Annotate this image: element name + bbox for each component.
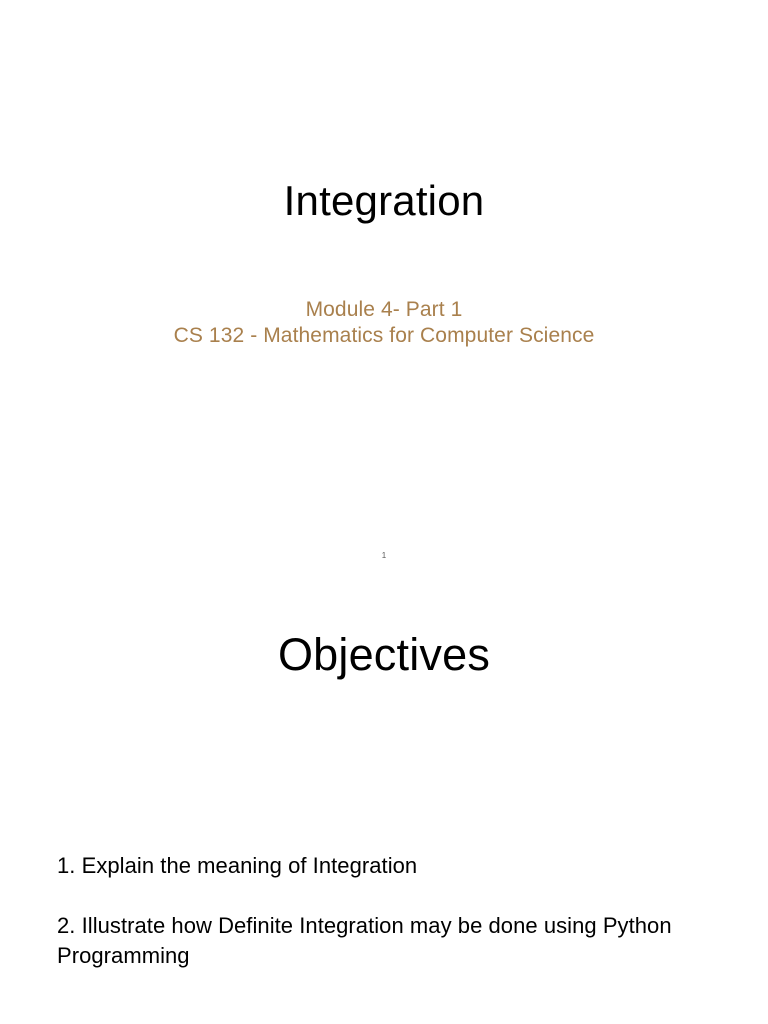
- objectives-list: 1. Explain the meaning of Integration 2.…: [57, 851, 717, 971]
- slide-title: Integration Module 4- Part 1 CS 132 - Ma…: [0, 0, 768, 576]
- list-item: 2. Illustrate how Definite Integration m…: [57, 911, 717, 971]
- slide-number: 1: [0, 551, 768, 561]
- subtitle-line-module: Module 4- Part 1: [0, 297, 768, 323]
- subtitle-line-course: CS 132 - Mathematics for Computer Scienc…: [0, 323, 768, 349]
- slide-page: Integration Module 4- Part 1 CS 132 - Ma…: [0, 0, 768, 1024]
- subtitle-block: Module 4- Part 1 CS 132 - Mathematics fo…: [0, 297, 768, 349]
- list-item: 1. Explain the meaning of Integration: [57, 851, 717, 881]
- page-title: Integration: [0, 176, 768, 226]
- objectives-heading: Objectives: [0, 628, 768, 682]
- slide-objectives: Objectives 1. Explain the meaning of Int…: [0, 576, 768, 1024]
